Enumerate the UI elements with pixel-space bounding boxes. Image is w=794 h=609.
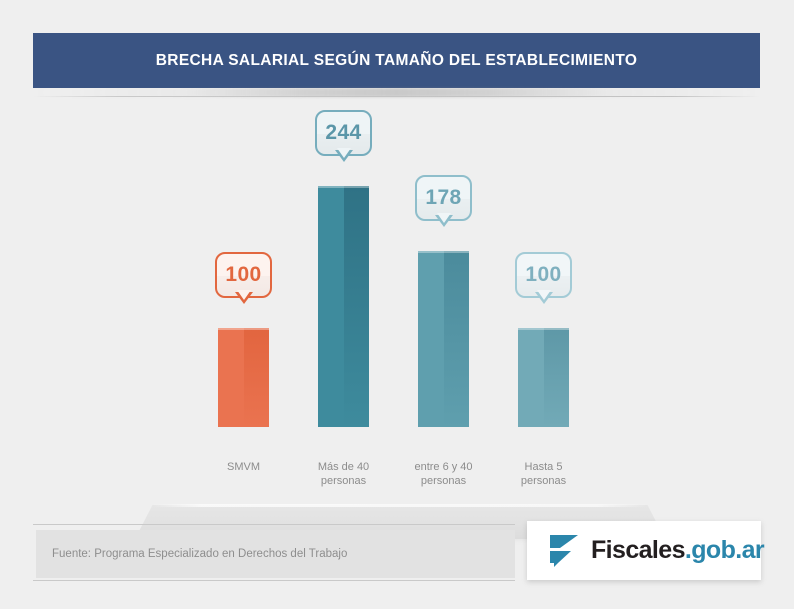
logo-text: Fiscales.gob.ar (591, 536, 764, 565)
value-callout-text: 100 (225, 263, 261, 287)
logo-box[interactable]: Fiscales.gob.ar (527, 521, 761, 580)
value-callout-mas-de-40: 244 (315, 110, 372, 156)
bar-smvm (218, 328, 269, 427)
value-callout-smvm: 100 (215, 252, 272, 298)
value-callout-text: 100 (525, 263, 561, 287)
logo-name-secondary: .gob.ar (685, 536, 764, 564)
value-callout-entre-6-y-40: 178 (415, 175, 472, 221)
value-callout-text: 178 (425, 186, 461, 210)
bar-left-face (518, 328, 544, 427)
bar-right-face (344, 186, 370, 427)
bar-top-cap (418, 251, 469, 253)
flag-f-icon (549, 534, 579, 568)
bar-left-face (418, 251, 444, 427)
footer-divider-bottom (33, 580, 515, 581)
footer-divider-top (33, 524, 515, 525)
bar-top-cap (518, 328, 569, 330)
bar-mas-de-40 (318, 186, 369, 427)
callout-pointer (435, 215, 453, 227)
page-title: BRECHA SALARIAL SEGÚN TAMAÑO DEL ESTABLE… (156, 52, 638, 70)
bar-top-cap (318, 186, 369, 188)
value-callout-hasta-5: 100 (515, 252, 572, 298)
x-axis-label-line1: Hasta 5 (484, 460, 604, 474)
bar-left-face (318, 186, 344, 427)
platform-highlight (152, 504, 647, 507)
bar-top-cap (218, 328, 269, 330)
value-callout-text: 244 (325, 121, 361, 145)
bar-right-face (244, 328, 270, 427)
bar-hasta-5 (518, 328, 569, 427)
callout-pointer (335, 150, 353, 162)
bar-left-face (218, 328, 244, 427)
source-box: Fuente: Programa Especializado en Derech… (36, 530, 515, 578)
x-axis-label-line2: personas (484, 474, 604, 488)
chart-title-bar: BRECHA SALARIAL SEGÚN TAMAÑO DEL ESTABLE… (33, 33, 760, 88)
callout-pointer (535, 292, 553, 304)
bar-right-face (444, 251, 470, 427)
callout-pointer (235, 292, 253, 304)
bar-right-face (544, 328, 570, 427)
logo-name-primary: Fiscales (591, 536, 685, 564)
source-text: Fuente: Programa Especializado en Derech… (36, 548, 347, 560)
infographic-canvas: BRECHA SALARIAL SEGÚN TAMAÑO DEL ESTABLE… (0, 0, 794, 609)
x-axis-label-hasta-5: Hasta 5 personas (484, 460, 604, 488)
bar-entre-6-y-40 (418, 251, 469, 427)
chart-plot-area: 100 SMVM 244 (0, 97, 794, 497)
